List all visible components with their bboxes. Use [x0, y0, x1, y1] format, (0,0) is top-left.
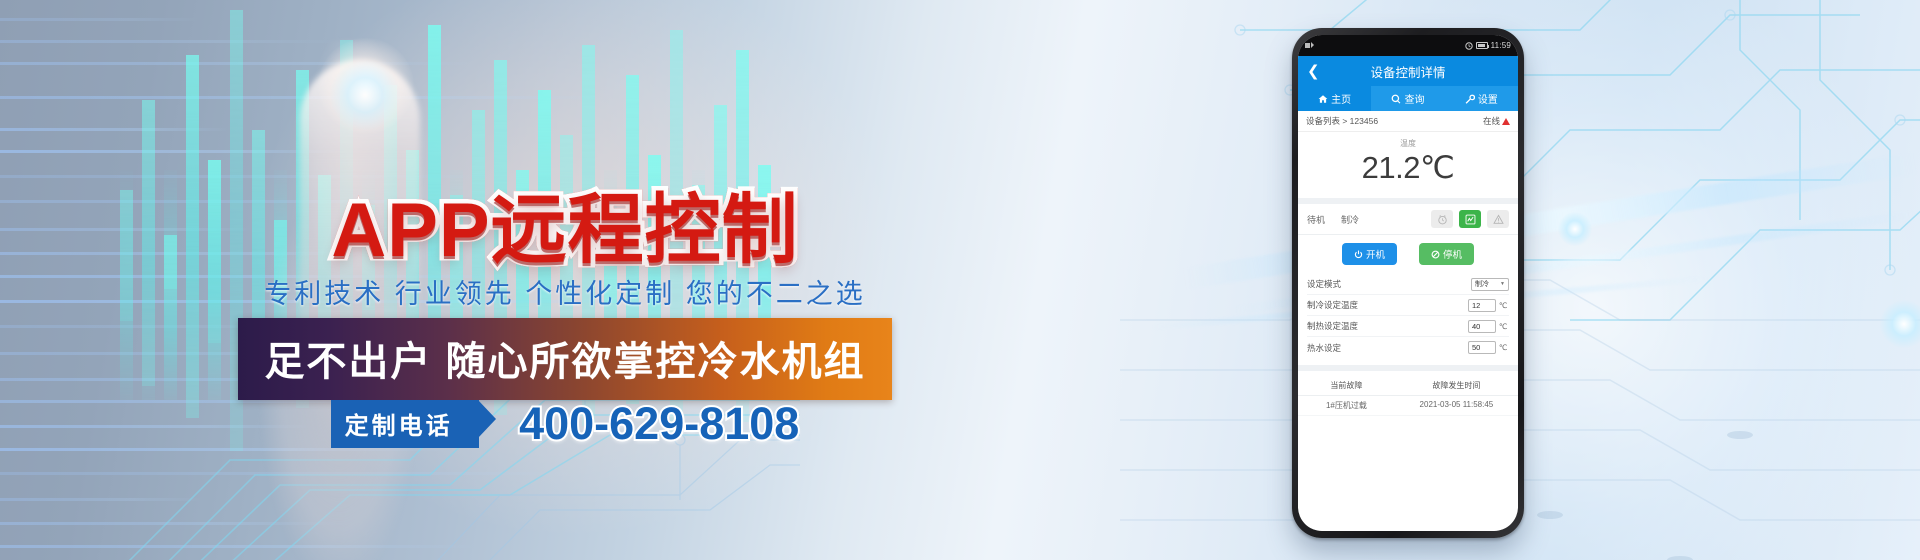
phone-mockup: 11:59 ❮ 设备控制详情 主页 查询 设置 [1292, 28, 1524, 538]
search-icon [1391, 94, 1401, 104]
setting-control: 50 ℃ [1468, 341, 1509, 354]
headline-text: APP远程控制 [331, 188, 798, 273]
page-title: APP远程控制 [0, 168, 1130, 278]
status-bar-right-icons: 11:59 [1465, 41, 1511, 50]
power-icon [1354, 250, 1363, 259]
cool-temp-unit: ℃ [1499, 301, 1509, 310]
power-off-label: 停机 [1443, 247, 1462, 261]
telephone-tag: 定制电话 [331, 400, 479, 448]
temperature-value: 21.2℃ [1298, 150, 1518, 186]
setting-row-hot-water: 热水设定 50 ℃ [1307, 337, 1509, 358]
tab-settings-label: 设置 [1478, 91, 1498, 106]
home-icon [1318, 94, 1328, 104]
clock-icon [1465, 42, 1473, 50]
table-row[interactable]: 1#压机过载 2021-03-05 11:58:45 [1298, 396, 1518, 416]
device-mode-label: 制冷 [1341, 213, 1359, 226]
power-off-button[interactable]: 停机 [1419, 243, 1474, 265]
tab-home[interactable]: 主页 [1298, 86, 1371, 111]
power-on-button[interactable]: 开机 [1342, 243, 1397, 265]
tab-query[interactable]: 查询 [1371, 86, 1444, 111]
setting-row-mode: 设定模式 制冷 ▼ [1307, 274, 1509, 295]
phone-status-bar: 11:59 [1298, 35, 1518, 56]
app-header: ❮ 设备控制详情 [1298, 56, 1518, 86]
light-spark [1880, 300, 1920, 348]
mode-row: 待机 制冷 [1298, 204, 1518, 235]
status-bar-left-icons [1305, 42, 1314, 49]
sim-icon [1305, 42, 1314, 49]
setting-row-cool-temp: 制冷设定温度 12 ℃ [1307, 295, 1509, 316]
breadcrumb-text[interactable]: 设备列表 > 123456 [1306, 115, 1378, 127]
highlight-bar: 足不出户 随心所欲掌控冷水机组 [238, 318, 891, 400]
chart-icon[interactable] [1459, 210, 1481, 228]
mode-select[interactable]: 制冷 ▼ [1471, 278, 1509, 291]
fault-col-current: 当前故障 [1298, 380, 1395, 391]
battery-icon [1476, 42, 1488, 49]
wrench-icon [1465, 94, 1475, 104]
power-buttons: 开机 停机 [1298, 235, 1518, 274]
promo-copy: APP远程控制 专利技术 行业领先 个性化定制 您的不二之选 足不出户 随心所欲… [0, 0, 1130, 560]
setting-label: 设定模式 [1307, 278, 1341, 290]
status-bar-time: 11:59 [1491, 41, 1511, 50]
fault-time: 2021-03-05 11:58:45 [1395, 400, 1518, 411]
timer-icon[interactable] [1431, 210, 1453, 228]
mode-select-value: 制冷 [1475, 279, 1489, 289]
phone-screen: 11:59 ❮ 设备控制详情 主页 查询 设置 [1298, 35, 1518, 531]
device-state-label: 待机 [1307, 213, 1325, 226]
telephone-number[interactable]: 400-629-8108 [519, 398, 799, 450]
hot-water-input[interactable]: 50 [1468, 341, 1496, 354]
alert-triangle-icon [1502, 118, 1510, 125]
quick-action-buttons [1431, 210, 1509, 228]
subtitle: 专利技术 行业领先 个性化定制 您的不二之选 [0, 272, 1130, 311]
setting-control: 12 ℃ [1468, 299, 1509, 312]
setting-row-heat-temp: 制热设定温度 40 ℃ [1307, 316, 1509, 337]
hot-water-unit: ℃ [1499, 343, 1509, 352]
light-spark [1558, 212, 1592, 246]
power-on-label: 开机 [1366, 247, 1385, 261]
tab-query-label: 查询 [1404, 91, 1424, 106]
temperature-label: 温度 [1298, 138, 1518, 149]
status-badge: 在线 [1483, 115, 1510, 127]
telephone-block: 定制电话 400-629-8108 [0, 398, 1130, 450]
tab-settings[interactable]: 设置 [1445, 86, 1518, 111]
breadcrumb: 设备列表 > 123456 在线 [1298, 111, 1518, 132]
heat-temp-unit: ℃ [1499, 322, 1509, 331]
timer-glyph-icon [1437, 214, 1448, 225]
alarm-icon[interactable] [1487, 210, 1509, 228]
cool-temp-input[interactable]: 12 [1468, 299, 1496, 312]
alarm-glyph-icon [1493, 214, 1504, 225]
tab-bar: 主页 查询 设置 [1298, 86, 1518, 111]
fault-col-time: 故障发生时间 [1395, 380, 1518, 391]
tab-home-label: 主页 [1331, 91, 1351, 106]
setting-label: 制冷设定温度 [1307, 299, 1358, 311]
chevron-down-icon: ▼ [1500, 281, 1505, 287]
chart-glyph-icon [1465, 214, 1476, 225]
fault-table-header: 当前故障 故障发生时间 [1298, 376, 1518, 396]
settings-list: 设定模式 制冷 ▼ 制冷设定温度 12 ℃ [1298, 274, 1518, 358]
fault-name: 1#压机过载 [1298, 400, 1395, 411]
setting-control: 40 ℃ [1468, 320, 1509, 333]
app-title: 设备控制详情 [1298, 62, 1518, 81]
highlight-bar-wrap: 足不出户 随心所欲掌控冷水机组 [0, 318, 1130, 400]
heat-temp-input[interactable]: 40 [1468, 320, 1496, 333]
temperature-panel: 温度 21.2℃ [1298, 132, 1518, 204]
status-badge-label: 在线 [1483, 115, 1500, 127]
fault-table: 当前故障 故障发生时间 1#压机过载 2021-03-05 11:58:45 [1298, 365, 1518, 416]
promo-banner: APP远程控制 专利技术 行业领先 个性化定制 您的不二之选 足不出户 随心所欲… [0, 0, 1920, 560]
setting-control: 制冷 ▼ [1471, 278, 1509, 291]
setting-label: 制热设定温度 [1307, 320, 1358, 332]
setting-label: 热水设定 [1307, 342, 1341, 354]
stop-icon [1431, 250, 1440, 259]
